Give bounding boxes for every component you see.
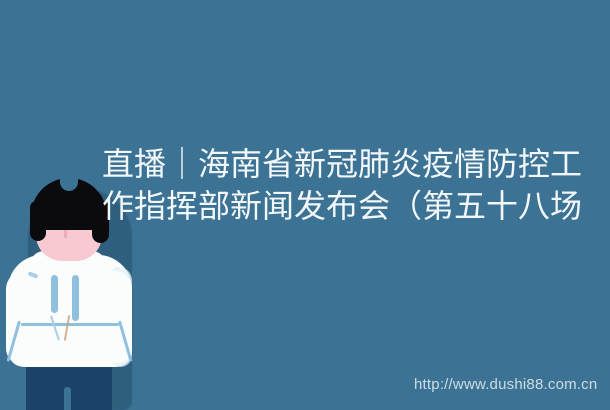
hair-side-left [30, 201, 46, 241]
headline-title: 直播｜海南省新冠肺炎疫情防控工 作指挥部新闻发布会（第五十八场 [102, 143, 602, 227]
news-thumbnail-card: 直播｜海南省新冠肺炎疫情防控工 作指挥部新闻发布会（第五十八场 http://w… [0, 0, 610, 410]
headline-line-1: 直播｜海南省新冠肺炎疫情防控工 [102, 143, 602, 185]
drawstring-right [72, 275, 79, 321]
pocket-top-line [21, 323, 119, 326]
watermark-url: http://www.dushi88.com.cn [414, 376, 597, 393]
drawstring-left [51, 275, 58, 313]
headline-line-2: 作指挥部新闻发布会（第五十八场 [102, 185, 602, 227]
pants-leg-gap [64, 387, 71, 410]
